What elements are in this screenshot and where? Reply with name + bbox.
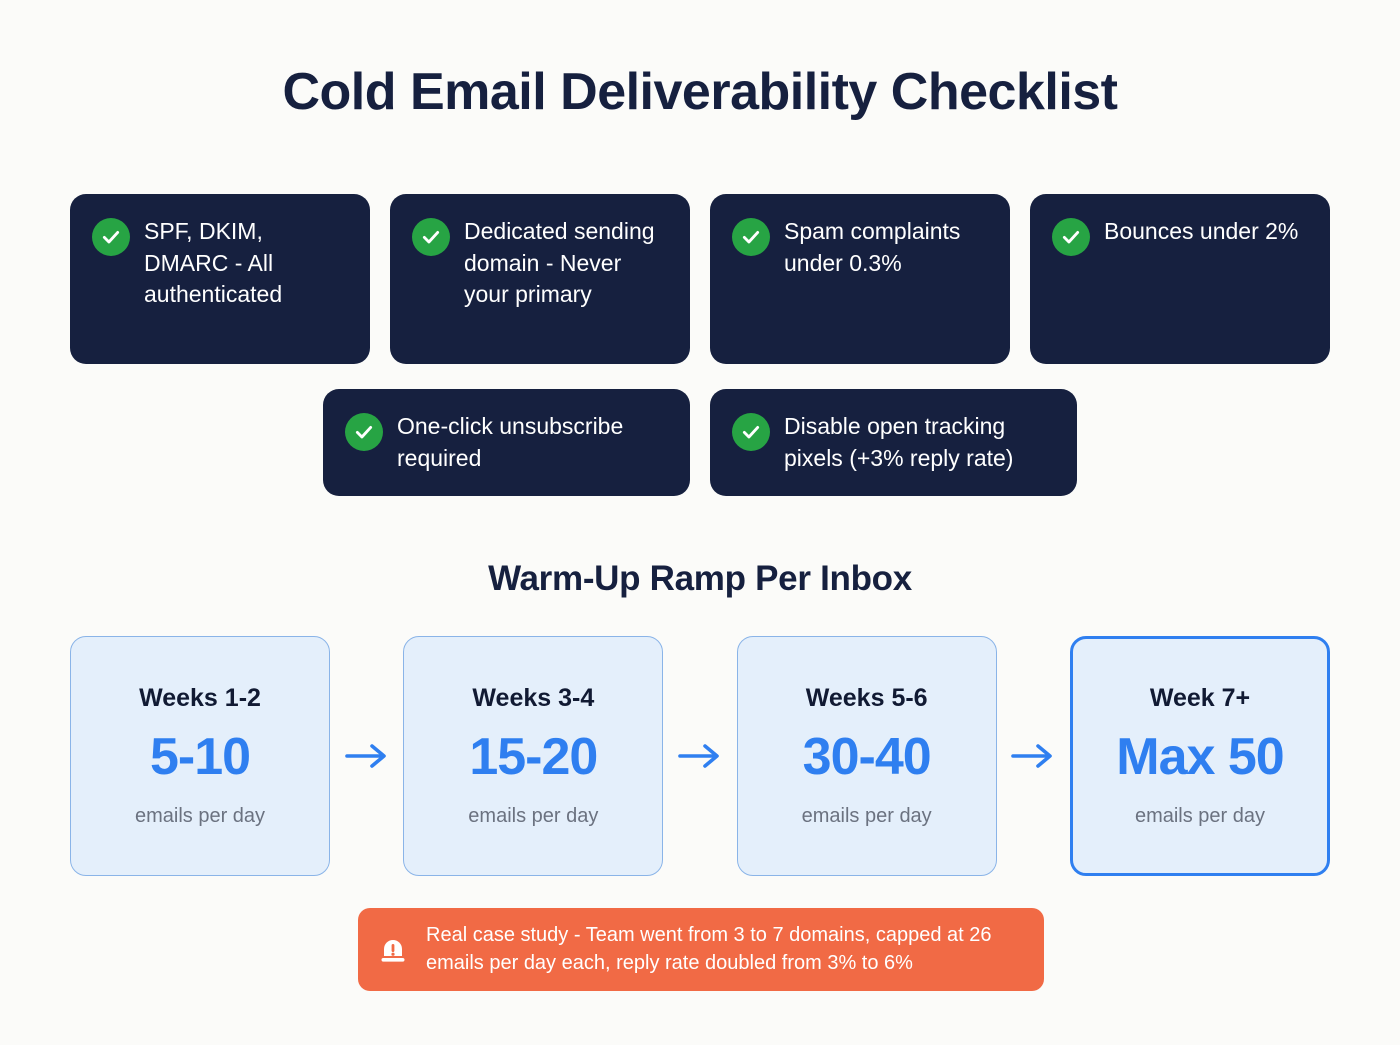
checklist-item: Dedicated sending domain - Never your pr… — [390, 194, 690, 364]
ramp-step-value: 15-20 — [469, 727, 597, 787]
checklist-item: SPF, DKIM, DMARC - All authenticated — [70, 194, 370, 364]
ramp-step-value: 30-40 — [803, 727, 931, 787]
checklist-item-label: Dedicated sending domain - Never your pr… — [464, 216, 670, 311]
check-icon — [732, 218, 770, 256]
arrow-right-icon — [663, 741, 736, 771]
ramp-step-unit: emails per day — [135, 805, 265, 828]
ramp-step-unit: emails per day — [468, 805, 598, 828]
ramp-step-label: Week 7+ — [1150, 684, 1250, 713]
ramp-step-card: Weeks 5-6 30-40 emails per day — [737, 636, 997, 876]
ramp-step-card-highlighted: Week 7+ Max 50 emails per day — [1070, 636, 1330, 876]
case-study-callout: Real case study - Team went from 3 to 7 … — [358, 908, 1044, 991]
check-icon — [1052, 218, 1090, 256]
ramp-step-unit: emails per day — [1135, 805, 1265, 828]
arrow-right-icon — [330, 741, 403, 771]
checklist-item-label: Spam complaints under 0.3% — [784, 216, 990, 279]
ramp-step-unit: emails per day — [802, 805, 932, 828]
alert-bell-icon — [376, 933, 410, 967]
checklist-item-label: Bounces under 2% — [1104, 216, 1298, 248]
page-title: Cold Email Deliverability Checklist — [0, 62, 1400, 122]
checklist-item-label: Disable open tracking pixels (+3% reply … — [784, 411, 1057, 474]
warmup-ramp-row: Weeks 1-2 5-10 emails per day Weeks 3-4 … — [70, 636, 1330, 876]
check-icon — [732, 413, 770, 451]
checklist-item: Disable open tracking pixels (+3% reply … — [710, 389, 1077, 496]
check-icon — [412, 218, 450, 256]
checklist-row-primary: SPF, DKIM, DMARC - All authenticated Ded… — [70, 194, 1330, 364]
checklist-row-secondary: One-click unsubscribe required Disable o… — [323, 389, 1077, 496]
checklist-item: Bounces under 2% — [1030, 194, 1330, 364]
ramp-step-value: 5-10 — [150, 727, 250, 787]
checklist-item-label: SPF, DKIM, DMARC - All authenticated — [144, 216, 350, 311]
ramp-step-label: Weeks 1-2 — [139, 684, 261, 713]
checklist-item: Spam complaints under 0.3% — [710, 194, 1010, 364]
case-study-text: Real case study - Team went from 3 to 7 … — [426, 922, 1022, 977]
check-icon — [92, 218, 130, 256]
ramp-step-card: Weeks 3-4 15-20 emails per day — [403, 636, 663, 876]
check-icon — [345, 413, 383, 451]
checklist-item-label: One-click unsubscribe required — [397, 411, 670, 474]
ramp-step-value: Max 50 — [1116, 727, 1283, 787]
ramp-step-card: Weeks 1-2 5-10 emails per day — [70, 636, 330, 876]
ramp-step-label: Weeks 3-4 — [472, 684, 594, 713]
checklist-item: One-click unsubscribe required — [323, 389, 690, 496]
ramp-step-label: Weeks 5-6 — [806, 684, 928, 713]
arrow-right-icon — [997, 741, 1070, 771]
section-heading-warmup: Warm-Up Ramp Per Inbox — [0, 559, 1400, 599]
